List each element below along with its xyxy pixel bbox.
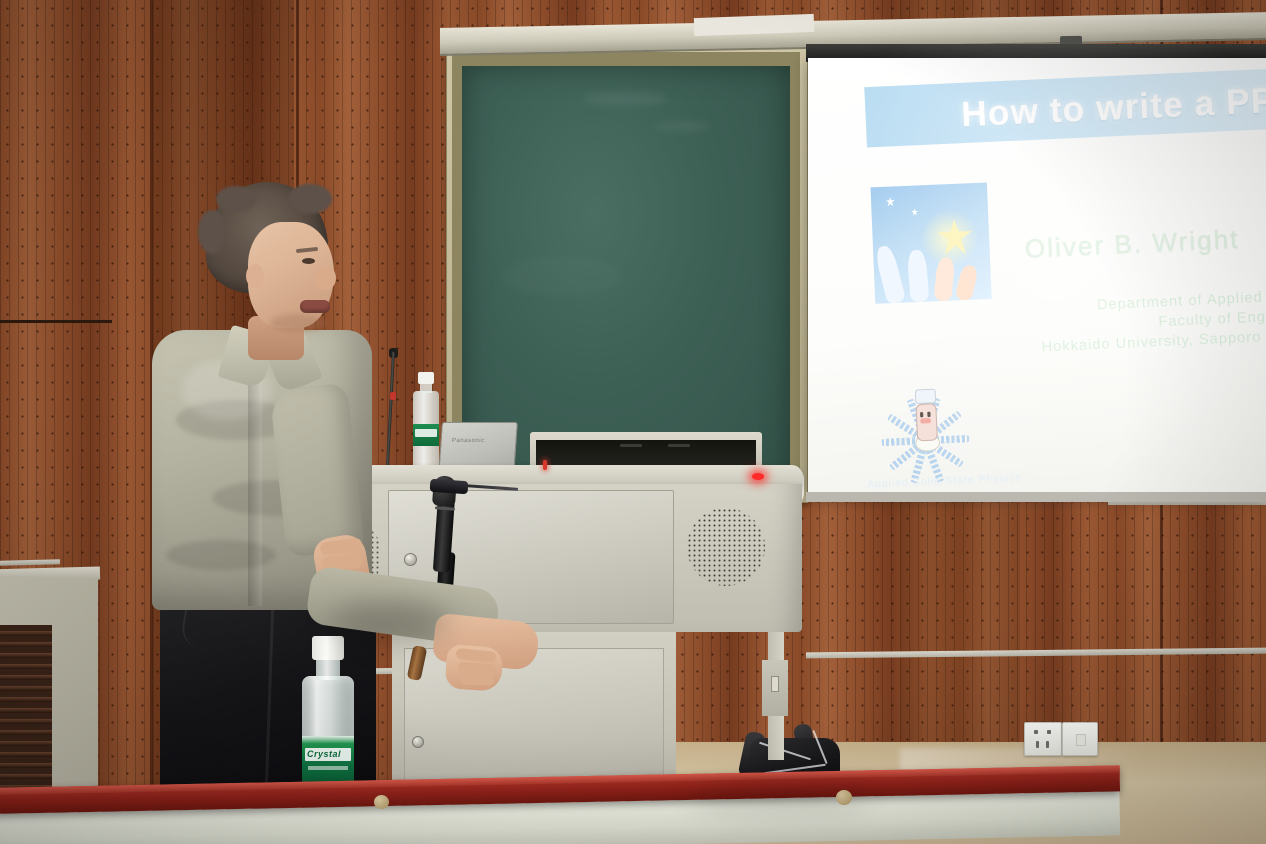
socket-hole (1036, 741, 1039, 748)
bag-trim (812, 730, 827, 764)
projector-screen-bottom-bar (806, 492, 1266, 502)
slide-logo-caption: Applied Solid State Physics (867, 472, 1022, 490)
monitor-button[interactable] (620, 444, 642, 447)
finger (460, 674, 494, 685)
logo-eye (920, 412, 923, 417)
chalk-smudge (502, 256, 622, 296)
socket-hole (1046, 741, 1049, 748)
bottle-brand-text: Crystal (307, 749, 341, 759)
hand-silhouette (874, 244, 907, 304)
projection-screen: How to write a PP Oliver B. Wright Depar… (808, 58, 1266, 496)
status-indicator-led (543, 460, 547, 470)
lecture-hall-photo: PROCEED How to write a PP Oliver B. Wrig… (0, 0, 1266, 844)
chalk-smudge (652, 122, 712, 131)
hand-silhouette (907, 249, 930, 302)
laser-pointer[interactable] (430, 479, 469, 495)
star-icon (885, 197, 895, 207)
leather-bracelet (407, 645, 428, 681)
slide-affiliation: Department of Applied Physics Faculty of… (1013, 284, 1266, 358)
hair-wisp (288, 184, 332, 214)
lectern-plate-label (771, 676, 779, 692)
logo-eye (927, 412, 930, 417)
logo-mouth (920, 418, 931, 424)
presenter (120, 180, 450, 800)
slide-logo: Applied Solid State Physics (861, 384, 1001, 496)
bottle-neck (316, 658, 340, 680)
presenter-eye (302, 258, 315, 264)
power-indicator-led (752, 473, 764, 480)
switch-rocker[interactable] (1076, 734, 1086, 746)
laptop-brand-label: Panasonic (452, 438, 485, 444)
air-vent (0, 625, 52, 793)
chalk-smudge (582, 92, 668, 106)
presenter-ear (246, 264, 264, 288)
slide-decorative-image (870, 183, 991, 304)
logo-head (915, 389, 936, 404)
shirt-placket (248, 376, 262, 606)
power-outlet[interactable] (1024, 722, 1062, 756)
chin-shadow (270, 314, 326, 332)
speaker-grille (687, 508, 765, 586)
hand-silhouette (955, 264, 979, 302)
socket-hole (1034, 730, 1038, 734)
wall-switch-plate[interactable] (1062, 722, 1098, 756)
cast-shadow (330, 600, 450, 640)
hair-wisp (198, 210, 226, 254)
cast-shadow (690, 780, 870, 814)
star-icon (911, 208, 919, 216)
socket-hole (1047, 730, 1051, 734)
hair-wisp (216, 186, 256, 212)
bottle-label-subtext (308, 766, 348, 770)
presenter-nose (316, 266, 336, 290)
presenter-mouth (300, 300, 330, 313)
bag-trim (759, 742, 811, 761)
wall-groove (0, 320, 112, 323)
slide-author: Oliver B. Wright (1024, 225, 1240, 265)
monitor-button[interactable] (668, 444, 690, 447)
bottle-cap (312, 636, 344, 660)
